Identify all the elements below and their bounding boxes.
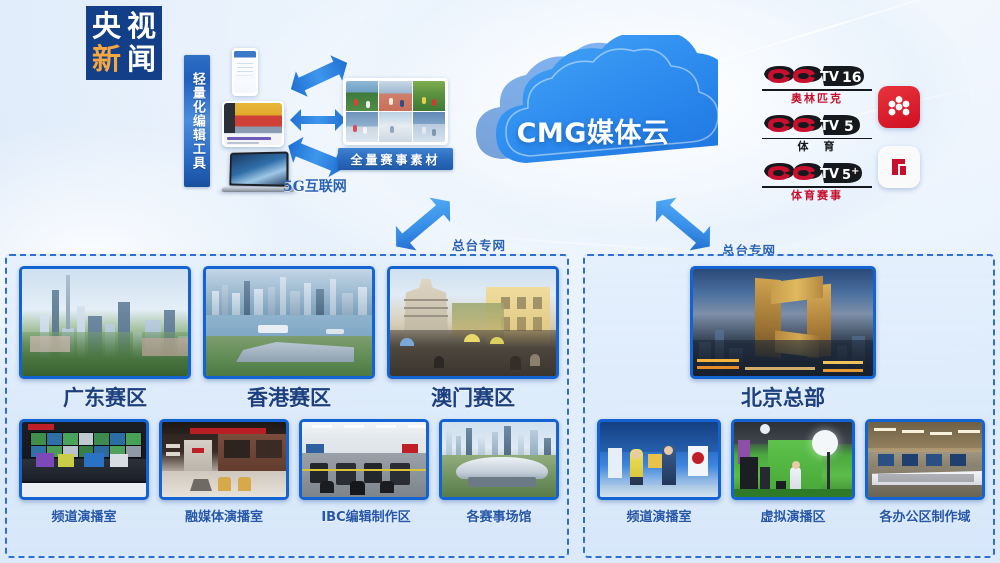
channel-number-5plus: 5	[842, 168, 851, 183]
tablet-screen	[224, 103, 282, 145]
app-icons	[878, 86, 920, 206]
arrow-phone-to-assets	[288, 58, 350, 94]
facility-photo-convergence-studio	[159, 419, 289, 500]
svg-text:TV: TV	[820, 119, 839, 134]
venue-caption-macau: 澳门赛区	[387, 382, 559, 412]
svg-text:+: +	[851, 166, 859, 177]
full-event-footage-label: 全量赛事素材	[338, 148, 453, 170]
venue-photo-beijing-hq	[690, 266, 876, 379]
channel-rule	[762, 89, 872, 91]
logo-char-yang: 央	[92, 12, 121, 41]
cctv-video-app-icon[interactable]	[878, 86, 920, 128]
phone-screen	[234, 51, 256, 93]
arrow-laptop-to-assets	[286, 140, 346, 174]
channel-subtitle: 体育赛事	[762, 190, 872, 201]
venue-photo-hongkong	[203, 266, 375, 379]
cloud-label: CMG媒体云	[517, 111, 670, 150]
logo-char-wen: 闻	[127, 45, 156, 74]
beijing-headquarters-panel: 北京总部 频道演播室	[583, 254, 995, 558]
facility-caption-virtual-studio: 虚拟演播区	[727, 506, 859, 525]
channel-subtitle: 体 育	[762, 141, 872, 152]
facility-photo-ibc-editing	[299, 419, 429, 500]
lightweight-editing-tools-label: 轻量化编辑工具	[184, 55, 210, 187]
tablet-editor-timeline	[224, 133, 282, 145]
tools-label-text: 轻量化编辑工具	[190, 72, 204, 170]
cctv-channel-logos: TV 16 奥林匹克 TV 5 体 育 TV 5	[762, 64, 872, 210]
svg-text:TV: TV	[820, 70, 839, 85]
tablet-device	[222, 101, 284, 147]
channel-cctv5: TV 5 体 育	[762, 113, 872, 153]
channel-rule	[762, 138, 872, 140]
assets-label-text: 全量赛事素材	[350, 151, 440, 168]
facility-photo-office-production	[865, 419, 985, 500]
tablet-video-frame	[235, 103, 282, 133]
facility-photo-channel-studio	[597, 419, 721, 500]
logo-char-shi: 视	[127, 12, 156, 41]
arrow-cloud-to-left-panel	[388, 196, 458, 252]
footage-thumb	[379, 81, 411, 111]
diagram-canvas: 央 视 新 闻 轻量化编辑工具	[0, 0, 1000, 563]
svg-text:TV: TV	[820, 167, 839, 182]
cctv-news-app-icon[interactable]	[878, 146, 920, 188]
channel-rule	[762, 186, 872, 188]
cmg-media-cloud: CMG媒体云	[468, 35, 718, 210]
facility-photo-control-room	[19, 419, 149, 500]
logo-char-xin: 新	[92, 45, 121, 74]
competition-zones-panel: 广东赛区	[5, 254, 569, 558]
arrow-tablet-to-assets	[290, 108, 346, 132]
laptop-lid	[229, 151, 288, 186]
footage-thumb	[413, 81, 445, 111]
footage-thumb	[413, 112, 445, 142]
channel-cctv5plus: TV 5 + 体育赛事	[762, 161, 872, 201]
facility-caption-control-room: 频道演播室	[15, 506, 153, 525]
channel-subtitle: 奥林匹克	[762, 93, 872, 104]
laptop-screen	[231, 154, 286, 185]
venue-caption-beijing-hq: 北京总部	[690, 382, 876, 412]
footage-thumb	[346, 81, 378, 111]
venue-caption-hongkong: 香港赛区	[203, 382, 375, 412]
tablet-editor-sidebar	[224, 103, 235, 133]
channel-number-5: 5	[844, 119, 854, 135]
facility-photo-virtual-studio	[731, 419, 855, 500]
cctv-news-logo: 央 视 新 闻	[86, 6, 162, 80]
footage-thumb	[346, 112, 378, 142]
facility-caption-channel-studio: 频道演播室	[593, 506, 725, 525]
venue-caption-guangdong: 广东赛区	[19, 382, 191, 412]
sports-footage-grid	[343, 78, 448, 145]
facility-photo-venues	[439, 419, 559, 500]
facility-caption-ibc-editing: IBC编辑制作区	[295, 506, 437, 525]
channel-cctv16: TV 16 奥林匹克	[762, 64, 872, 104]
footage-thumb	[379, 112, 411, 142]
facility-caption-convergence-studio: 融媒体演播室	[155, 506, 293, 525]
facility-caption-office-production: 各办公区制作域	[861, 506, 989, 525]
channel-number-16: 16	[842, 70, 861, 86]
venue-photo-guangdong	[19, 266, 191, 379]
facility-caption-venues: 各赛事场馆	[435, 506, 563, 525]
5g-internet-label: 5G互联网	[283, 176, 347, 196]
venue-photo-macau	[387, 266, 559, 379]
left-private-network-label: 总台专网	[452, 235, 506, 254]
mobile-phone-device	[232, 48, 258, 96]
